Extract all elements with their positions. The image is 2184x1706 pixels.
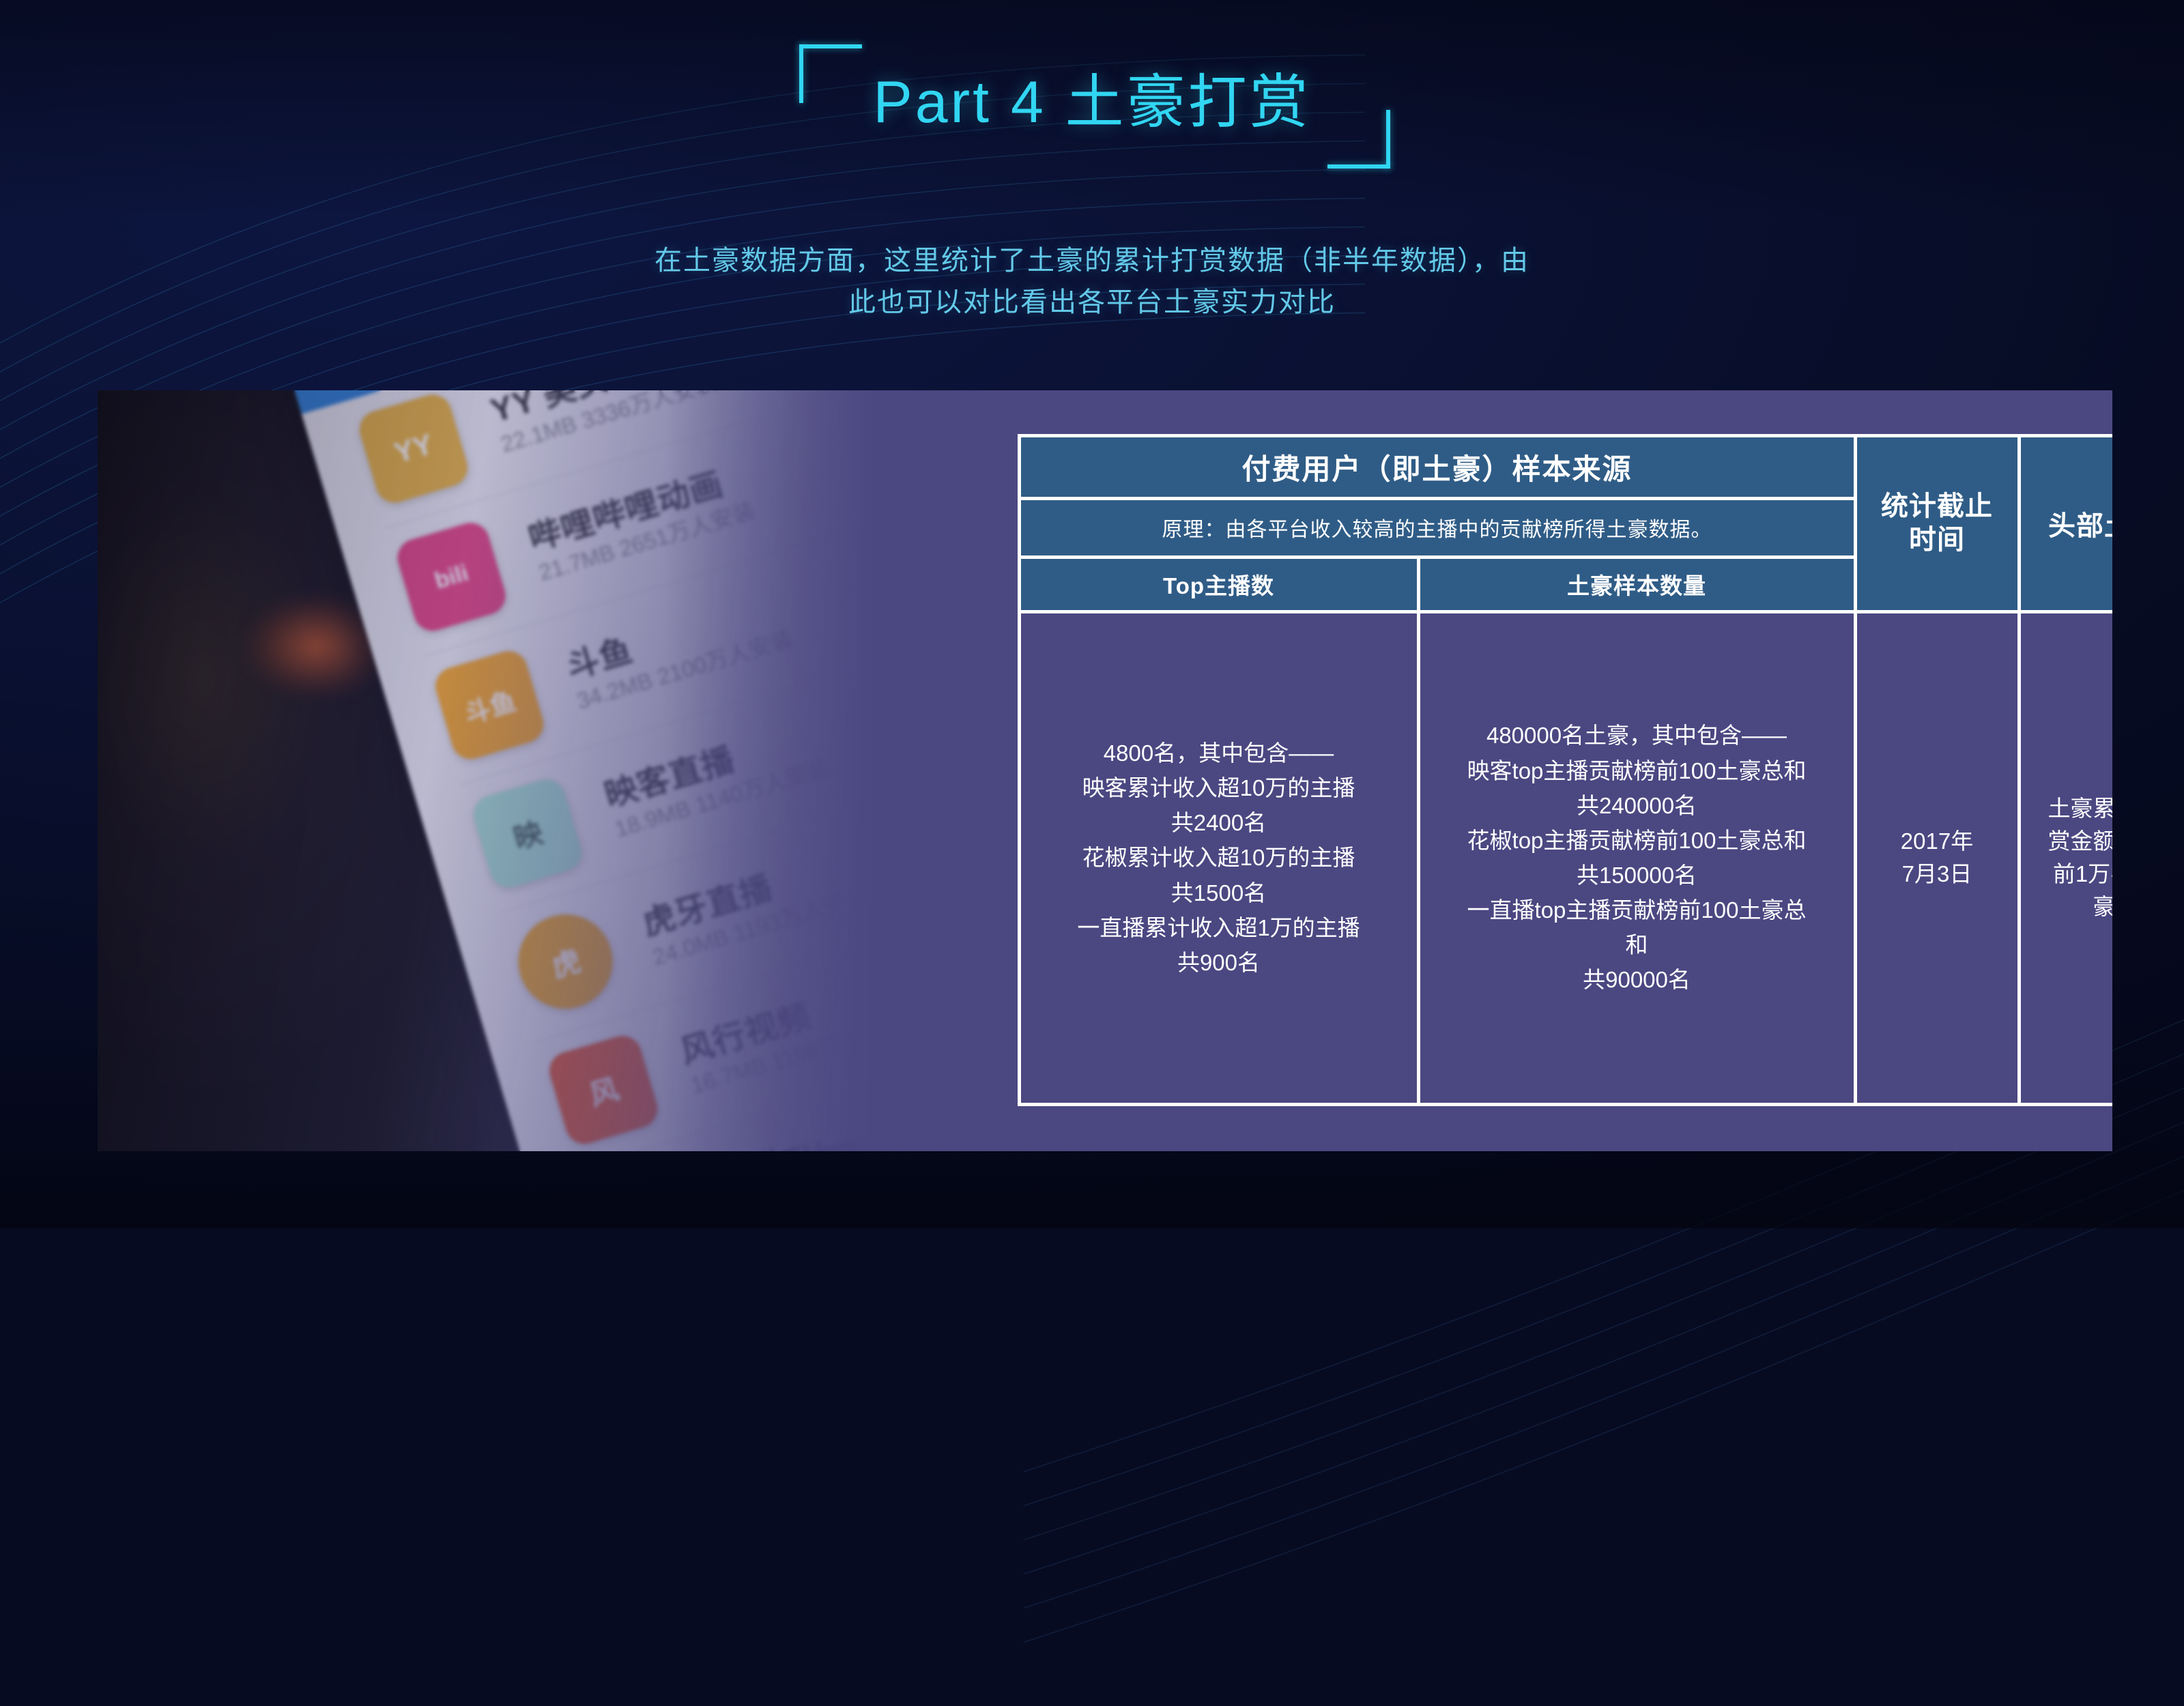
subtitle-line-1: 在土豪数据方面，这里统计了土豪的累计打赏数据（非半年数据），由: [539, 240, 1645, 282]
subtitle-line-2: 此也可以对比看出各平台土豪实力对比: [539, 282, 1645, 323]
photo-fade-to-panel: [664, 390, 910, 1151]
table-principle-cell: 原理：由各平台收入较高的主播中的贡献榜所得土豪数据。: [1018, 497, 1857, 559]
bracket-top-left-icon: [799, 44, 862, 103]
table-header-tuhao-sample: 土豪样本数量: [1417, 555, 1857, 613]
page-subtitle: 在土豪数据方面，这里统计了土豪的累计打赏数据（非半年数据），由 此也可以对比看出…: [539, 240, 1645, 323]
page-title: Part 4 土豪打赏: [873, 73, 1310, 132]
table-header-head-tuhao: 头部土豪: [2017, 434, 2113, 613]
table-cell-head-tuhao: 土豪累计打 赏金额排序 前1万名土 豪: [2017, 610, 2113, 1106]
phone-photo: 直播 YY YY 美女视频直播 22.1MB 3336万人安装 安装 bili …: [98, 390, 910, 1151]
table-title-cell: 付费用户（即土豪）样本来源: [1018, 434, 1857, 500]
table-cell-tuhao-sample: 480000名土豪，其中包含—— 映客top主播贡献榜前100土豪总和 共240…: [1417, 610, 1857, 1106]
sample-source-table: 付费用户（即土豪）样本来源 原理：由各平台收入较高的主播中的贡献榜所得土豪数据。…: [1019, 435, 2073, 1104]
content-panel: 直播 YY YY 美女视频直播 22.1MB 3336万人安装 安装 bili …: [98, 390, 2112, 1151]
bracket-bottom-right-icon: [1327, 110, 1390, 169]
table-cell-cutoff-time: 2017年 7月3日: [1854, 610, 2021, 1106]
page-title-wrapper: Part 4 土豪打赏: [0, 48, 2184, 157]
table-cell-top-anchors: 4800名，其中包含—— 映客累计收入超10万的主播 共2400名 花椒累计收入…: [1018, 610, 1420, 1106]
table-header-top-anchors: Top主播数: [1018, 555, 1420, 613]
table-header-cutoff-time: 统计截止 时间: [1854, 434, 2021, 613]
